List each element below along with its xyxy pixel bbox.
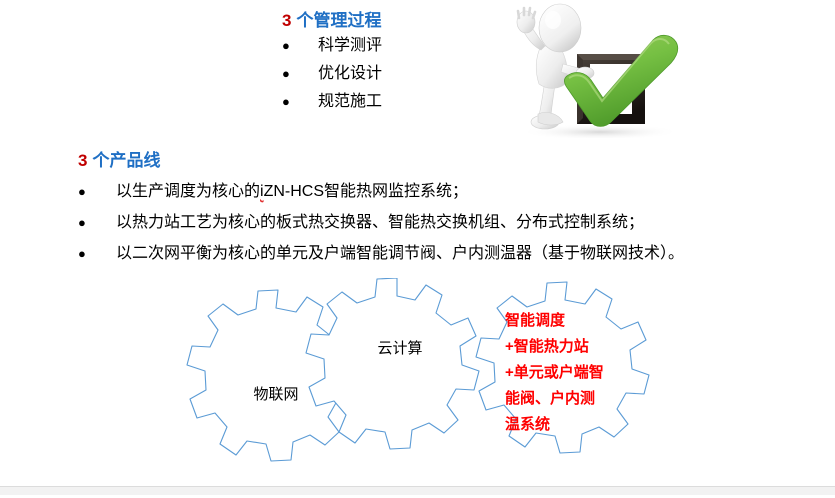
list-item: ● 以热力站工艺为核心的板式热交换器、智能热交换机组、分布式控制系统；: [78, 207, 828, 238]
bullet-dot-icon: ●: [78, 240, 106, 268]
list-item-label: 以热力站工艺为核心的板式热交换器、智能热交换机组、分布式控制系统；: [116, 207, 644, 238]
bullet-dot-icon: ●: [282, 88, 314, 116]
gear-label-smart-line-5: 温系统: [505, 412, 640, 438]
figure-head: [539, 4, 581, 52]
list-item-prefix: 以生产调度为核心的: [116, 183, 260, 200]
list-item: ● 以生产调度为核心的iZN-HCS智能热网监控系统；: [78, 176, 828, 207]
product-line-block: 3个产品线 ● 以生产调度为核心的iZN-HCS智能热网监控系统； ● 以热力站…: [78, 150, 828, 269]
management-process-block: 3个管理过程 ● 科学测评 ● 优化设计 ● 规范施工: [282, 10, 512, 116]
product-heading-number: 3: [78, 151, 87, 170]
management-bullet-list: ● 科学测评 ● 优化设计 ● 规范施工: [282, 32, 512, 116]
gear-label-smart-line-1: 智能调度: [505, 308, 640, 334]
product-heading-text: 个产品线: [92, 151, 160, 170]
person-with-checkmark-graphic: [505, 2, 695, 138]
bottom-strip: [0, 486, 835, 495]
list-item: ● 科学测评: [282, 32, 512, 60]
gear-diagram: 物联网 云计算 智能调度 +智能热力站 +单元或户端智 能阀、户内测 温系统: [175, 278, 755, 493]
product-bullet-list: ● 以生产调度为核心的iZN-HCS智能热网监控系统； ● 以热力站工艺为核心的…: [78, 176, 828, 269]
bullet-dot-icon: ●: [78, 178, 106, 206]
gear-label-smart-line-2: +智能热力站: [505, 334, 640, 360]
bullet-dot-icon: ●: [78, 209, 106, 237]
gear-label-cloud: 云计算: [345, 338, 455, 359]
list-item-label: 规范施工: [318, 88, 382, 116]
list-item-label: 优化设计: [318, 60, 382, 88]
list-item-label: 以二次网平衡为核心的单元及户端智能调节阀、户内测温器（基于物联网技术）。: [116, 238, 684, 269]
product-heading: 3个产品线: [78, 150, 828, 172]
list-item-suffix: ZN-HCS智能热网监控系统；: [264, 183, 468, 200]
gear-label-iot: 物联网: [221, 384, 331, 405]
waving-hand: [517, 8, 535, 33]
management-heading-text: 个管理过程: [296, 11, 381, 30]
management-heading-number: 3: [282, 11, 291, 30]
list-item-label: 以生产调度为核心的iZN-HCS智能热网监控系统；: [116, 176, 468, 207]
gear-label-smart: 智能调度 +智能热力站 +单元或户端智 能阀、户内测 温系统: [505, 308, 640, 438]
list-item: ● 以二次网平衡为核心的单元及户端智能调节阀、户内测温器（基于物联网技术）。: [78, 238, 828, 269]
gear-label-smart-line-3: +单元或户端智: [505, 360, 640, 386]
bullet-dot-icon: ●: [282, 32, 314, 60]
list-item: ● 优化设计: [282, 60, 512, 88]
gear-label-smart-line-4: 能阀、户内测: [505, 386, 640, 412]
list-item: ● 规范施工: [282, 88, 512, 116]
list-item-label: 科学测评: [318, 32, 382, 60]
management-heading: 3个管理过程: [282, 10, 512, 32]
bullet-dot-icon: ●: [282, 60, 314, 88]
